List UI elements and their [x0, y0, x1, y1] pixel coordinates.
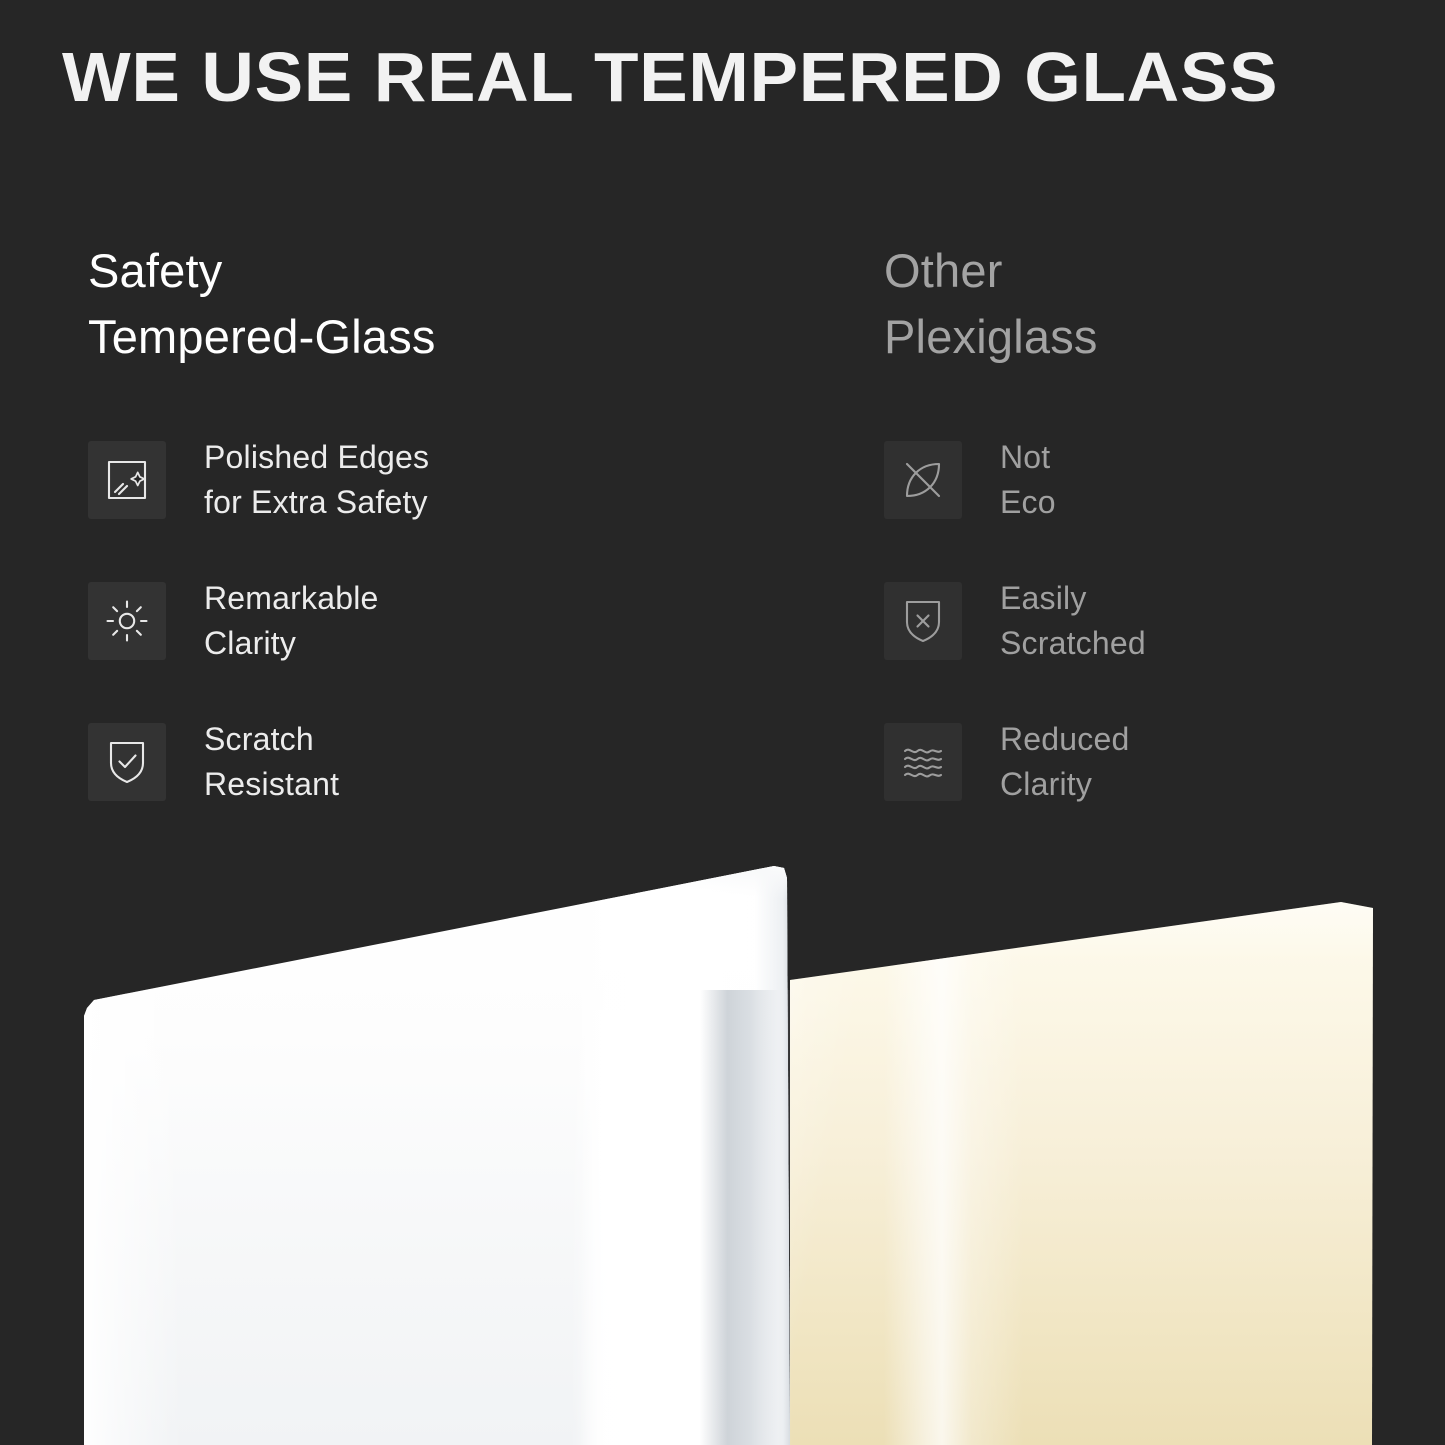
comparison-column-tempered-glass: Safety Tempered-Glass Polished Edges for…: [88, 238, 808, 802]
feature-remarkable-clarity: Remarkable Clarity: [88, 581, 808, 661]
feature-polished-edges: Polished Edges for Extra Safety: [88, 440, 808, 520]
feature-reduced-clarity: Reduced Clarity: [884, 722, 1404, 802]
page-title: WE USE REAL TEMPERED GLASS: [62, 42, 1445, 112]
feature-label: Polished Edges for Extra Safety: [204, 435, 429, 525]
feature-list-plexiglass: Not Eco Easily Scratched: [884, 440, 1404, 802]
feature-label: Easily Scratched: [1000, 576, 1146, 666]
column-title-plexiglass: Other Plexiglass: [884, 238, 1404, 370]
feature-easily-scratched: Easily Scratched: [884, 581, 1404, 661]
feature-label: Reduced Clarity: [1000, 717, 1130, 807]
feature-list-tempered-glass: Polished Edges for Extra Safety: [88, 440, 808, 802]
feature-label: Remarkable Clarity: [204, 576, 379, 666]
sun-clarity-icon: [88, 582, 166, 660]
shield-check-icon: [88, 723, 166, 801]
column-title-tempered-glass: Safety Tempered-Glass: [88, 238, 808, 370]
shield-x-icon: [884, 582, 962, 660]
comparison-column-plexiglass: Other Plexiglass Not Eco: [884, 238, 1404, 802]
wavy-lines-icon: [884, 723, 962, 801]
feature-label: Not Eco: [1000, 435, 1056, 525]
feature-scratch-resistant: Scratch Resistant: [88, 722, 808, 802]
feature-not-eco: Not Eco: [884, 440, 1404, 520]
tempered-glass-panel: [84, 860, 790, 1445]
feature-label: Scratch Resistant: [204, 717, 339, 807]
infographic-canvas: WE USE REAL TEMPERED GLASS Safety Temper…: [0, 0, 1445, 1445]
plexiglass-panel: [790, 840, 1375, 1445]
product-photo-area: [0, 840, 1445, 1445]
polished-glass-sparkle-icon: [88, 441, 166, 519]
crossed-leaf-icon: [884, 441, 962, 519]
